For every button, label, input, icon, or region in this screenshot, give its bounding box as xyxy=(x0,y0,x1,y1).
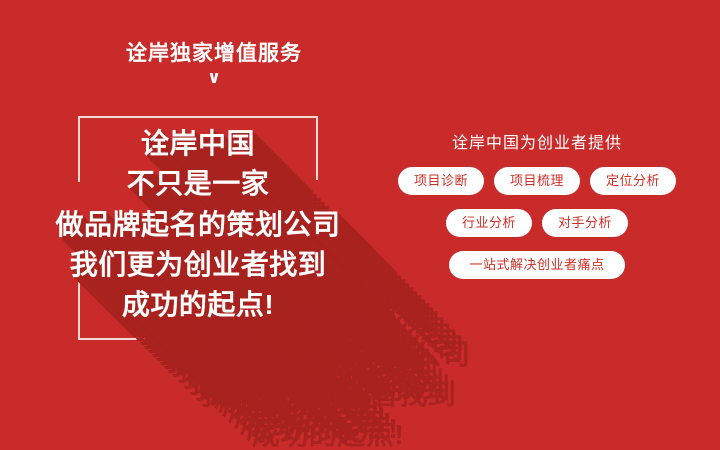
services-heading: 诠岸中国为创业者提供 xyxy=(378,134,696,153)
headline-text: 诠岸中国 不只是一家 做品牌起名的策划公司 我们更为创业者找到 成功的起点! xyxy=(0,124,410,326)
headline-line: 诠岸中国 xyxy=(0,124,410,164)
headline-line: 做品牌起名的策划公司 xyxy=(0,205,410,245)
headline-block: 诠岸中国 不只是一家 做品牌起名的策划公司 我们更为创业者找到 成功的起点! xyxy=(78,116,318,340)
services-row-1: 项目诊断 项目梳理 定位分析 xyxy=(378,167,696,195)
service-pill[interactable]: 行业分析 xyxy=(446,209,532,237)
service-pill[interactable]: 一站式解决创业者痛点 xyxy=(449,251,624,279)
promo-poster: 诠岸独家增值服务 ∨ 诠岸中国 不只是一家 做品牌起名的策划公司 我们更为创业者… xyxy=(0,0,720,450)
services-row-2: 行业分析 对手分析 xyxy=(378,209,696,237)
headline-line: 不只是一家 xyxy=(0,164,410,204)
headline-line: 我们更为创业者找到 xyxy=(0,245,410,285)
service-pill[interactable]: 对手分析 xyxy=(542,209,628,237)
services-row-3: 一站式解决创业者痛点 xyxy=(378,251,696,279)
service-pill[interactable]: 定位分析 xyxy=(590,167,676,195)
services-block: 诠岸中国为创业者提供 项目诊断 项目梳理 定位分析 行业分析 对手分析 一站式解… xyxy=(378,134,696,279)
service-pill[interactable]: 项目梳理 xyxy=(494,167,580,195)
chevron-down-icon: ∨ xyxy=(104,69,324,86)
headline-line: 成功的起点! xyxy=(0,285,410,325)
service-pill[interactable]: 项目诊断 xyxy=(398,167,484,195)
kicker-block: 诠岸独家增值服务 ∨ xyxy=(104,42,324,86)
kicker-title: 诠岸独家增值服务 xyxy=(104,42,324,65)
